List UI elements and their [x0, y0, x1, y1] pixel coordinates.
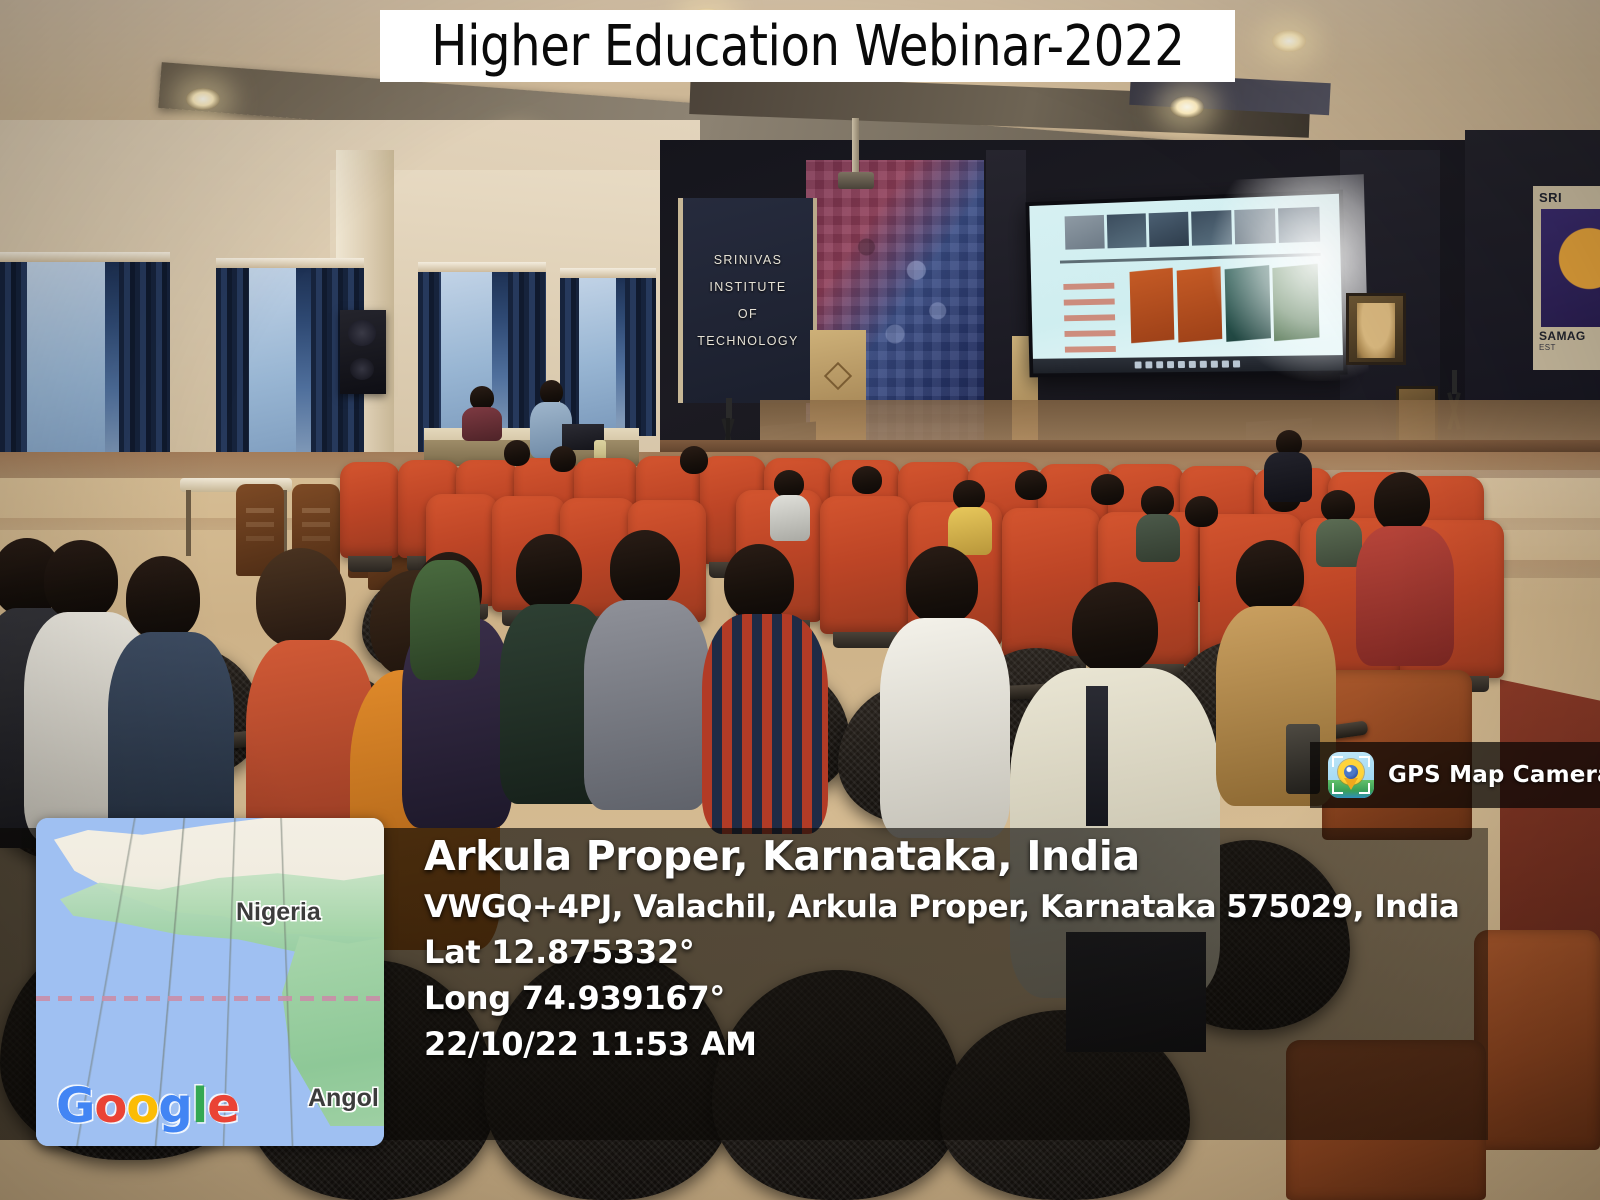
wall-speaker — [340, 310, 386, 394]
icon-frame-bracket-bottom-right — [1359, 783, 1370, 794]
person-audience — [500, 440, 536, 474]
map-label-nigeria: Nigeria — [236, 898, 321, 927]
person-audience — [1180, 496, 1224, 540]
projector — [838, 172, 874, 189]
icon-frame-bracket-bottom-left — [1332, 783, 1343, 794]
samaga-banner: SRI SAMAG EST — [1533, 186, 1600, 370]
person-audience-foreground — [880, 546, 1010, 816]
screen-taskbar — [1033, 353, 1343, 373]
person-collar-tie — [1086, 686, 1108, 826]
window — [0, 252, 170, 482]
person-audience-foreground — [1356, 472, 1452, 652]
icon-frame-bracket-top-right — [1359, 756, 1370, 767]
person-audience — [546, 446, 582, 480]
person-audience — [948, 480, 992, 528]
map-equator-line — [36, 996, 384, 1001]
person-audience — [848, 466, 888, 506]
person-audience — [1086, 474, 1130, 514]
institute-banner-line-1: SRINIVAS — [714, 253, 783, 267]
google-logo-o2: o — [126, 1078, 158, 1134]
google-logo: Google — [56, 1078, 239, 1134]
title-banner-text: Higher Education Webinar-2022 — [431, 14, 1184, 79]
person-seated-presenter — [462, 386, 502, 442]
gps-map-camera-badge: GPS Map Camera — [1310, 742, 1600, 808]
map-label-angola: Angol — [308, 1084, 379, 1113]
location-address: VWGQ+4PJ, Valachil, Arkula Proper, Karna… — [424, 889, 1544, 925]
projector-mount-pole — [852, 118, 859, 178]
screen-video-thumbnails — [1065, 207, 1321, 250]
ceiling-downlight — [186, 88, 220, 110]
location-timestamp: 22/10/22 11:53 AM — [424, 1025, 1544, 1063]
location-latitude: Lat 12.875332° — [424, 933, 1544, 971]
window — [560, 268, 656, 436]
person-audience — [770, 470, 810, 510]
screen-sidebar-content — [1063, 274, 1116, 353]
framed-portrait — [1346, 293, 1406, 365]
location-place-name: Arkula Proper, Karnataka, India — [424, 834, 1544, 880]
google-logo-g1: G — [56, 1078, 94, 1134]
side-table-leg — [186, 490, 191, 556]
icon-camera-lens — [1344, 765, 1358, 779]
screen-slide-cards — [1129, 265, 1319, 342]
location-info-text: Arkula Proper, Karnataka, India VWGQ+4PJ… — [424, 834, 1544, 1063]
samaga-banner-est: EST — [1539, 343, 1600, 352]
institute-banner-line-4: TECHNOLOGY — [697, 334, 799, 348]
person-walking-aisle — [1264, 430, 1312, 500]
icon-frame-bracket-top-left — [1332, 756, 1343, 767]
person-audience-foreground — [112, 556, 232, 846]
gps-map-camera-icon — [1328, 752, 1374, 798]
person-audience — [1136, 486, 1180, 532]
person-audience-foreground — [410, 560, 480, 680]
gps-app-name: GPS Map Camera — [1388, 762, 1600, 788]
ceiling-downlight — [1272, 30, 1306, 52]
title-banner: Higher Education Webinar-2022 — [380, 10, 1235, 82]
institute-banner-line-2: INSTITUTE — [709, 280, 786, 294]
person-audience-foreground — [702, 544, 826, 814]
institute-banner: SRINIVAS INSTITUTE OF TECHNOLOGY — [678, 198, 817, 403]
ceiling-downlight — [1170, 96, 1204, 118]
google-logo-g2: g — [158, 1078, 191, 1134]
samaga-banner-top: SRI — [1539, 190, 1600, 205]
google-logo-l: l — [192, 1078, 207, 1134]
orange-chair — [340, 462, 400, 558]
google-logo-o1: o — [94, 1078, 126, 1134]
person-audience — [1010, 470, 1052, 510]
google-logo-e: e — [207, 1078, 239, 1134]
projection-screen — [1025, 189, 1347, 377]
location-longitude: Long 74.939167° — [424, 979, 1544, 1017]
map-thumbnail: Nigeria Angol Google — [36, 818, 384, 1146]
screen-divider — [1060, 253, 1321, 264]
person-audience — [676, 446, 714, 480]
institute-banner-line-3: OF — [738, 307, 758, 321]
samaga-banner-emblem — [1541, 209, 1600, 327]
person-audience-foreground — [584, 530, 710, 790]
samaga-banner-bottom: SAMAG — [1539, 329, 1600, 343]
gps-map-camera-photo: SRINIVAS INSTITUTE OF TECHNOLOGY SRI SAM… — [0, 0, 1600, 1200]
